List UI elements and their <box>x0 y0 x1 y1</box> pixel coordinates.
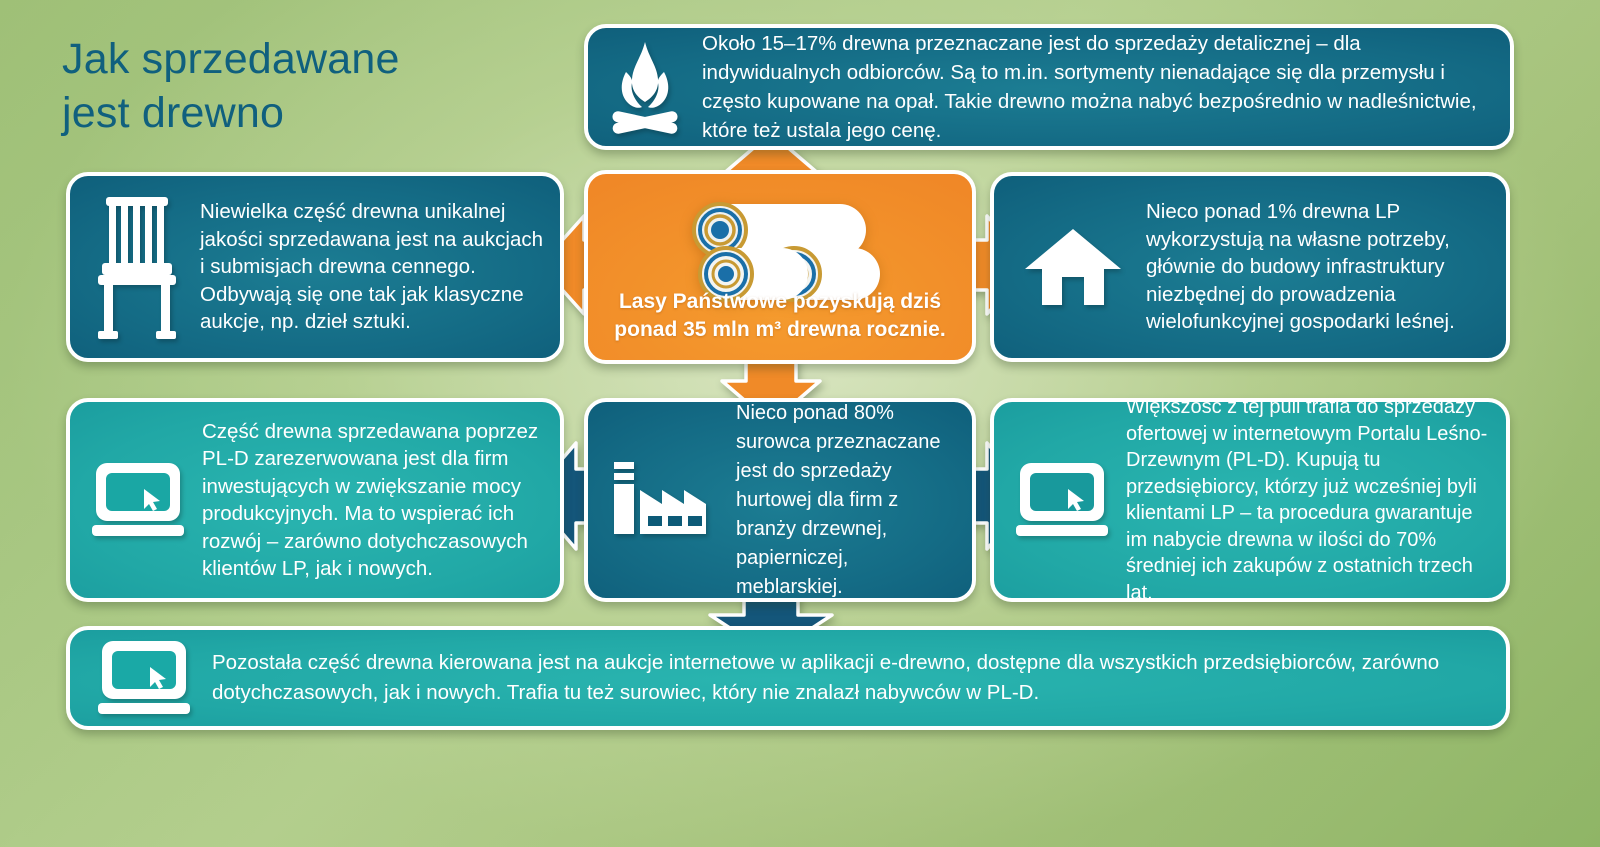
box-retail-sales-text: Około 15–17% drewna przeznaczane jest do… <box>702 29 1496 145</box>
box-pld-portal-text: Większość z tej puli trafia do sprzedaży… <box>1126 398 1492 602</box>
box-wholesale[interactable]: Nieco ponad 80% surowca przeznaczane jes… <box>584 398 976 602</box>
laptop-cursor-icon <box>98 639 190 717</box>
campfire-icon <box>610 39 680 135</box>
box-e-drewno[interactable]: Pozostała część drewna kierowana jest na… <box>66 626 1510 730</box>
laptop-cursor-icon <box>1016 461 1108 539</box>
central-caption-line-1: Lasy Państwowe pozyskują dziś <box>588 288 972 316</box>
title-line-2: jest drewno <box>62 86 532 140</box>
box-wholesale-text: Nieco ponad 80% surowca przeznaczane jes… <box>736 399 958 602</box>
chair-icon <box>96 193 178 341</box>
page-title: Jak sprzedawane jest drewno <box>62 32 532 140</box>
box-e-drewno-text: Pozostała część drewna kierowana jest na… <box>212 648 1492 708</box>
central-caption: Lasy Państwowe pozyskują dziś ponad 35 m… <box>588 288 972 344</box>
box-own-use-text: Nieco ponad 1% drewna LP wykorzystują na… <box>1146 198 1492 336</box>
box-auctions-text: Niewielka część drewna unikalnej jakości… <box>200 198 546 336</box>
box-own-use[interactable]: Nieco ponad 1% drewna LP wykorzystują na… <box>990 172 1510 362</box>
box-pld-portal[interactable]: Większość z tej puli trafia do sprzedaży… <box>990 398 1510 602</box>
box-pld-reserved[interactable]: Część drewna sprzedawana poprzez PL-D za… <box>66 398 564 602</box>
factory-icon <box>606 460 722 540</box>
box-auctions[interactable]: Niewielka część drewna unikalnej jakości… <box>66 172 564 362</box>
central-caption-line-2: ponad 35 mln m³ drewna rocznie. <box>588 316 972 344</box>
house-icon <box>1022 225 1124 309</box>
title-line-1: Jak sprzedawane <box>62 32 532 86</box>
infographic-canvas: Jak sprzedawane jest drewno <box>0 0 1600 847</box>
box-pld-reserved-text: Część drewna sprzedawana poprzez PL-D za… <box>202 418 546 583</box>
box-retail-sales[interactable]: Około 15–17% drewna przeznaczane jest do… <box>584 24 1514 150</box>
laptop-cursor-icon <box>92 461 184 539</box>
box-central-production[interactable]: Lasy Państwowe pozyskują dziś ponad 35 m… <box>584 170 976 364</box>
